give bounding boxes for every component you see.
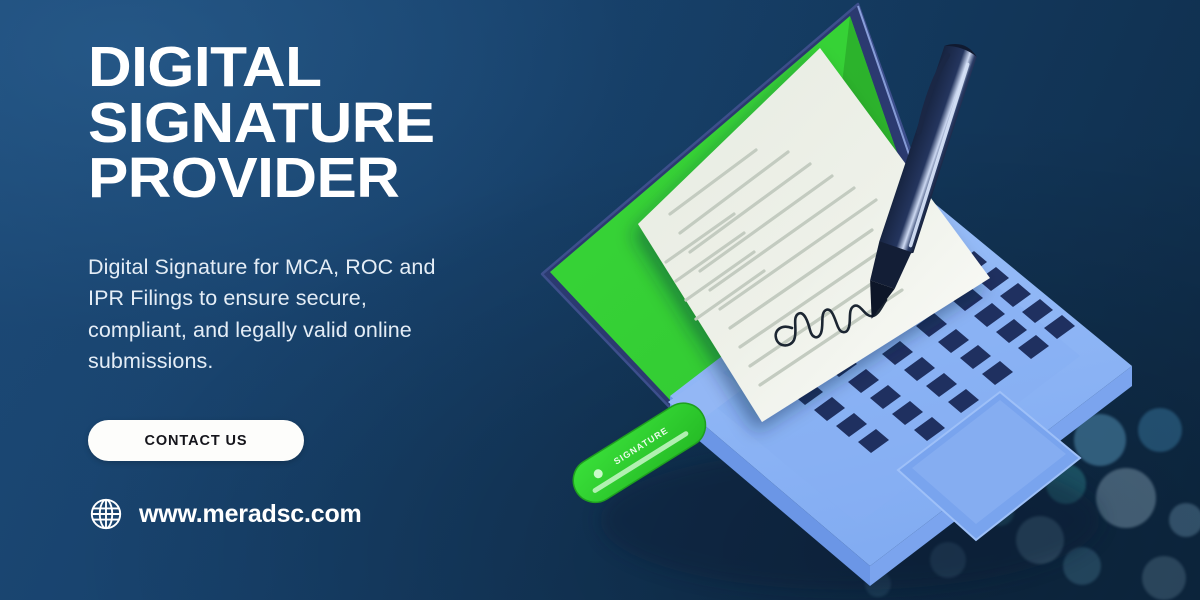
- contact-us-button[interactable]: CONTACT US: [88, 420, 304, 461]
- website-url-text: www.meradsc.com: [139, 500, 362, 529]
- banner-root: SIGNATURE: [0, 0, 1200, 600]
- hero-illustration: SIGNATURE: [520, 0, 1200, 600]
- text-content-column: DIGITAL SIGNATURE PROVIDER Digital Signa…: [88, 40, 508, 560]
- headline-line-1: DIGITAL: [88, 40, 533, 96]
- page-title: DIGITAL SIGNATURE PROVIDER: [88, 40, 533, 207]
- website-link[interactable]: www.meradsc.com: [88, 496, 508, 532]
- globe-icon: [88, 496, 124, 532]
- headline-line-2: SIGNATURE: [88, 96, 533, 152]
- headline-line-3: PROVIDER: [88, 151, 533, 207]
- subheading-text: Digital Signature for MCA, ROC and IPR F…: [88, 252, 460, 378]
